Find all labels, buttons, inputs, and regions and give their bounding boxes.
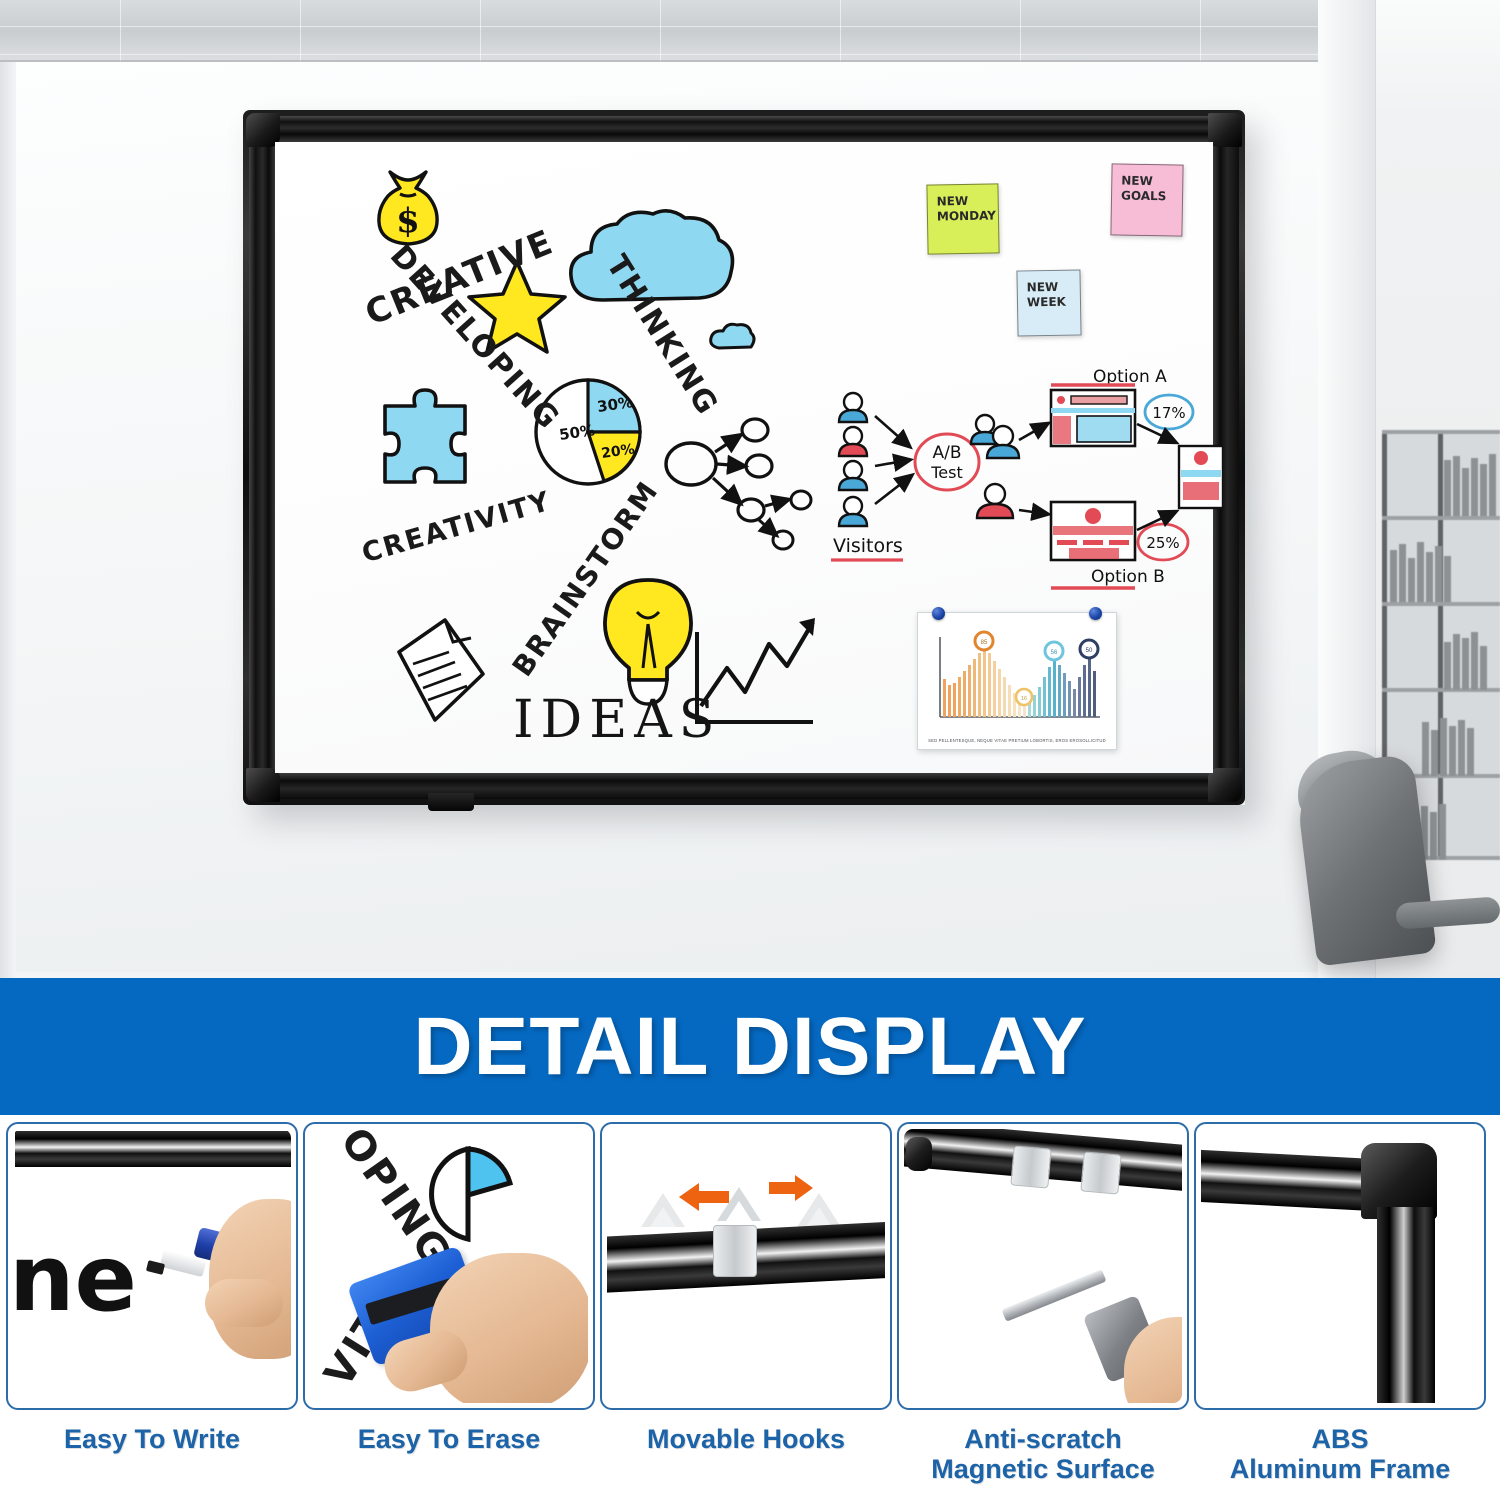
arrow-left-icon — [677, 1181, 731, 1213]
arrow-right-icon — [767, 1173, 815, 1203]
poster-caption: SED PELLENTESQUE, NEQUE VITAE PRETIUM LO… — [924, 738, 1110, 743]
thumbnail-easy-to-erase: OPING VIT M — [303, 1122, 595, 1410]
option-b-text: Option B — [1091, 567, 1165, 587]
frame-corner-icon — [906, 1137, 932, 1171]
svg-text:50: 50 — [1086, 648, 1093, 654]
detail-card-anti-scratch: Anti-scratch Magnetic Surface — [897, 1122, 1189, 1496]
svg-text:16: 16 — [1021, 696, 1027, 702]
doodle-word-creativity: CREATIVITY — [359, 486, 555, 570]
frame-corner-top-right — [1208, 113, 1242, 147]
whiteboard-surface: $ 50% 30% 2 — [275, 142, 1213, 773]
pen-tray-clip — [428, 793, 474, 811]
hook-clip — [1080, 1151, 1121, 1194]
svg-text:Test: Test — [930, 463, 963, 482]
detail-card-easy-to-erase: OPING VIT M Easy To Erase — [303, 1122, 595, 1496]
hook-hole — [650, 1207, 676, 1227]
ab-test-diagram: A/B Test Option A — [823, 354, 1223, 604]
thumbnail-anti-scratch — [897, 1122, 1189, 1410]
visitors-text: Visitors — [833, 535, 903, 557]
cloud-small-icon — [707, 320, 759, 354]
office-chair-icon — [1293, 753, 1436, 966]
banner-title: DETAIL DISPLAY — [413, 1000, 1086, 1094]
svg-text:A/B: A/B — [932, 443, 961, 463]
wall-left-edge — [0, 62, 16, 978]
sticky-note-new-monday: NEW MONDAY — [926, 183, 999, 254]
detail-card-movable-hooks: Movable Hooks — [600, 1122, 892, 1496]
magnet-right — [1089, 607, 1102, 620]
hook-clip — [1010, 1145, 1051, 1188]
handwriting-sample: ne — [13, 1225, 137, 1332]
sticky-note-new-week: NEW WEEK — [1016, 269, 1081, 336]
detail-card-abs-frame: ABS Aluminum Frame — [1194, 1122, 1486, 1496]
thumbnail-movable-hooks — [600, 1122, 892, 1410]
frame-rail-icon — [15, 1131, 291, 1167]
sticky-line-1: NEW — [937, 194, 990, 210]
node-tree-icon — [663, 414, 823, 559]
svg-text:56: 56 — [1051, 650, 1058, 656]
frame-rail-side-icon — [1377, 1207, 1435, 1403]
detail-card-label: Anti-scratch Magnetic Surface — [897, 1424, 1189, 1484]
sticky-note-new-goals: NEW GOALS — [1110, 163, 1183, 236]
thumbnail-easy-to-write: ne Erase — [6, 1122, 298, 1410]
detail-card-label: Movable Hooks — [600, 1424, 892, 1454]
finger-icon — [205, 1279, 283, 1327]
label-line-1: ABS — [1194, 1424, 1486, 1454]
doodle-word-ideas: IDEAS — [513, 690, 721, 750]
hand-icon — [430, 1253, 588, 1403]
whiteboard: $ 50% 30% 2 — [243, 110, 1245, 805]
detail-card-label: Easy To Erase — [303, 1424, 595, 1454]
svg-text:$: $ — [396, 201, 420, 241]
sticky-line-1: NEW — [1121, 174, 1174, 190]
puzzle-piece-icon — [367, 382, 479, 492]
thumbnail-abs-frame — [1194, 1122, 1486, 1410]
svg-text:17%: 17% — [1152, 404, 1185, 422]
sticky-line-2: MONDAY — [937, 209, 990, 225]
frame-rail-left — [249, 124, 275, 791]
label-line-2: Aluminum Frame — [1194, 1454, 1486, 1484]
label-line-2: Magnetic Surface — [897, 1454, 1189, 1484]
detail-card-label: ABS Aluminum Frame — [1194, 1424, 1486, 1484]
document-icon — [383, 612, 495, 732]
detail-card-label: Easy To Write — [6, 1424, 298, 1454]
svg-text:25%: 25% — [1146, 534, 1179, 552]
frame-rail-bottom — [257, 773, 1231, 799]
frame-corner-bottom-right — [1208, 768, 1242, 802]
hook-clip — [713, 1225, 757, 1277]
magnetic-poster: 85 16 56 50 SED PELLENTESQUE, NEQUE VITA… — [917, 612, 1117, 750]
hero-scene: $ 50% 30% 2 — [0, 0, 1500, 978]
sticky-line-2: GOALS — [1121, 189, 1174, 205]
pie-doodle-fragment — [414, 1143, 522, 1251]
svg-text:85: 85 — [981, 640, 988, 646]
frame-corner-bottom-left — [246, 768, 280, 802]
sticky-line-2: WEEK — [1027, 295, 1072, 311]
label-line-1: Anti-scratch — [897, 1424, 1189, 1454]
frame-rail-top — [257, 116, 1231, 142]
detail-card-easy-to-write: ne Erase Easy To Write — [6, 1122, 298, 1496]
magnet-left — [932, 607, 945, 620]
detail-card-row: ne Erase Easy To Write OPING VIT M — [0, 1122, 1500, 1496]
sticky-line-1: NEW — [1027, 280, 1072, 296]
poster-bar-chart: 85 16 56 50 — [918, 613, 1118, 751]
detail-display-banner: DETAIL DISPLAY — [0, 978, 1500, 1115]
